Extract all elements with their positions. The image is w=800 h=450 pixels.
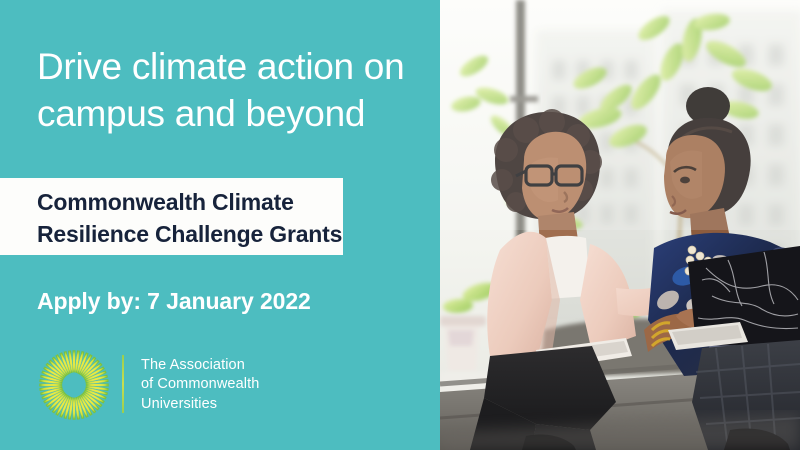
logo-divider: [122, 355, 124, 413]
programme-title-line-1: Commonwealth Climate: [37, 187, 337, 219]
office-photograph: [440, 0, 800, 450]
acu-logo: The Association of Commonwealth Universi…: [37, 346, 297, 426]
logo-line-1: The Association: [141, 356, 259, 375]
logo-wordmark: The Association of Commonwealth Universi…: [141, 356, 259, 414]
headline-line-1: Drive climate action on: [37, 44, 427, 91]
promotional-poster: Drive climate action on campus and beyon…: [0, 0, 800, 450]
programme-title: Commonwealth Climate Resilience Challeng…: [37, 187, 337, 250]
logo-line-2: of Commonwealth: [141, 375, 259, 394]
page-title: Drive climate action on campus and beyon…: [37, 44, 427, 137]
acu-sunburst-icon: [37, 348, 111, 422]
left-teal-panel: Drive climate action on campus and beyon…: [0, 0, 440, 450]
logo-line-3: Universities: [141, 395, 259, 414]
programme-title-line-2: Resilience Challenge Grants: [37, 219, 337, 251]
programme-title-box: Commonwealth Climate Resilience Challeng…: [0, 178, 343, 255]
deadline-text: Apply by: 7 January 2022: [37, 288, 311, 315]
headline-line-2: campus and beyond: [37, 91, 427, 138]
